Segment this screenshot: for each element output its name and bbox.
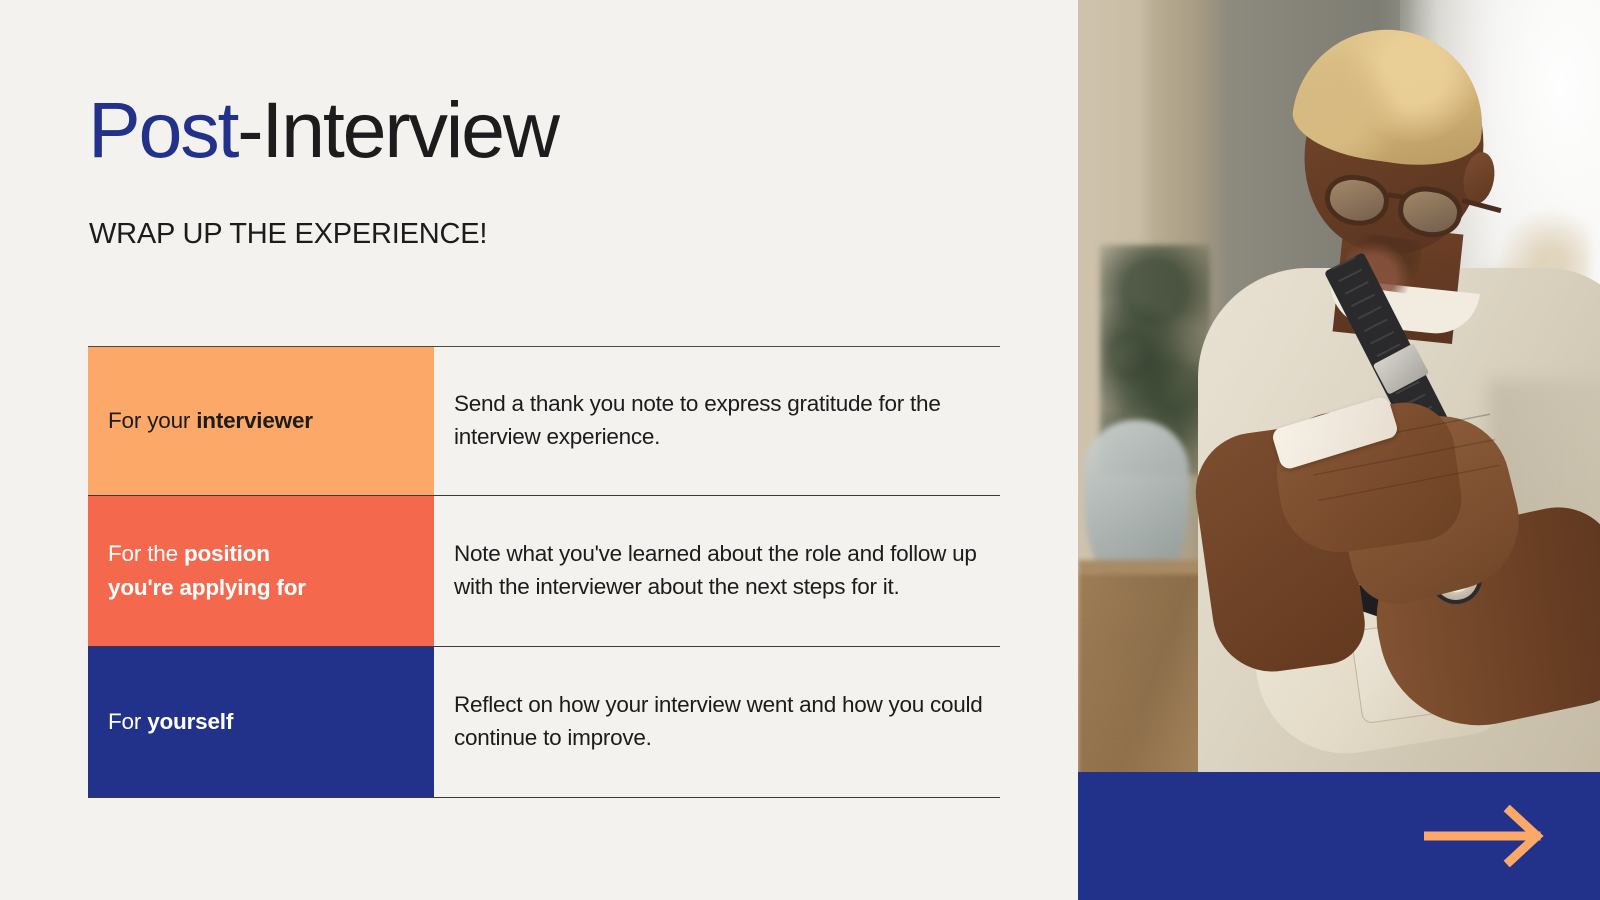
photo-glasses-left-lens bbox=[1321, 171, 1392, 230]
row-label-prefix: For the bbox=[108, 541, 184, 566]
row-body-interviewer: Send a thank you note to express gratitu… bbox=[434, 347, 1000, 495]
post-interview-table: For your interviewer Send a thank you no… bbox=[88, 346, 1000, 798]
arrow-right-icon[interactable] bbox=[1424, 805, 1552, 867]
page-subtitle: WRAP UP THE EXPERIENCE! bbox=[89, 218, 487, 251]
footer-navy-bar bbox=[1078, 772, 1600, 900]
row-label-interviewer: For your interviewer bbox=[88, 347, 434, 495]
row-label-bold: position bbox=[184, 541, 270, 566]
table-row: For your interviewer Send a thank you no… bbox=[88, 347, 1000, 495]
row-label-bold-second: you're applying for bbox=[108, 575, 306, 600]
page-title: Post-Interview bbox=[88, 90, 558, 171]
page-title-accent: Post bbox=[88, 85, 237, 174]
photo-glasses-right-lens bbox=[1394, 182, 1465, 241]
person-photo bbox=[1078, 0, 1600, 900]
slide-root: Post-Interview WRAP UP THE EXPERIENCE! F… bbox=[0, 0, 1600, 900]
row-label-bold: interviewer bbox=[196, 408, 313, 433]
page-title-rest: -Interview bbox=[237, 85, 557, 174]
table-row: For the position you're applying for Not… bbox=[88, 496, 1000, 646]
row-label-yourself: For yourself bbox=[88, 647, 434, 797]
photo-panel bbox=[1078, 0, 1600, 900]
row-body-yourself: Reflect on how your interview went and h… bbox=[434, 647, 1000, 797]
photo-glasses-bridge bbox=[1388, 192, 1405, 199]
row-body-position: Note what you've learned about the role … bbox=[434, 496, 1000, 646]
left-content-panel: Post-Interview WRAP UP THE EXPERIENCE! F… bbox=[0, 0, 1078, 900]
table-rule-bottom bbox=[88, 797, 1000, 798]
row-label-bold: yourself bbox=[147, 709, 233, 734]
row-label-prefix: For your bbox=[108, 408, 196, 433]
table-row: For yourself Reflect on how your intervi… bbox=[88, 647, 1000, 797]
row-label-prefix: For bbox=[108, 709, 147, 734]
row-label-position: For the position you're applying for bbox=[88, 496, 434, 646]
